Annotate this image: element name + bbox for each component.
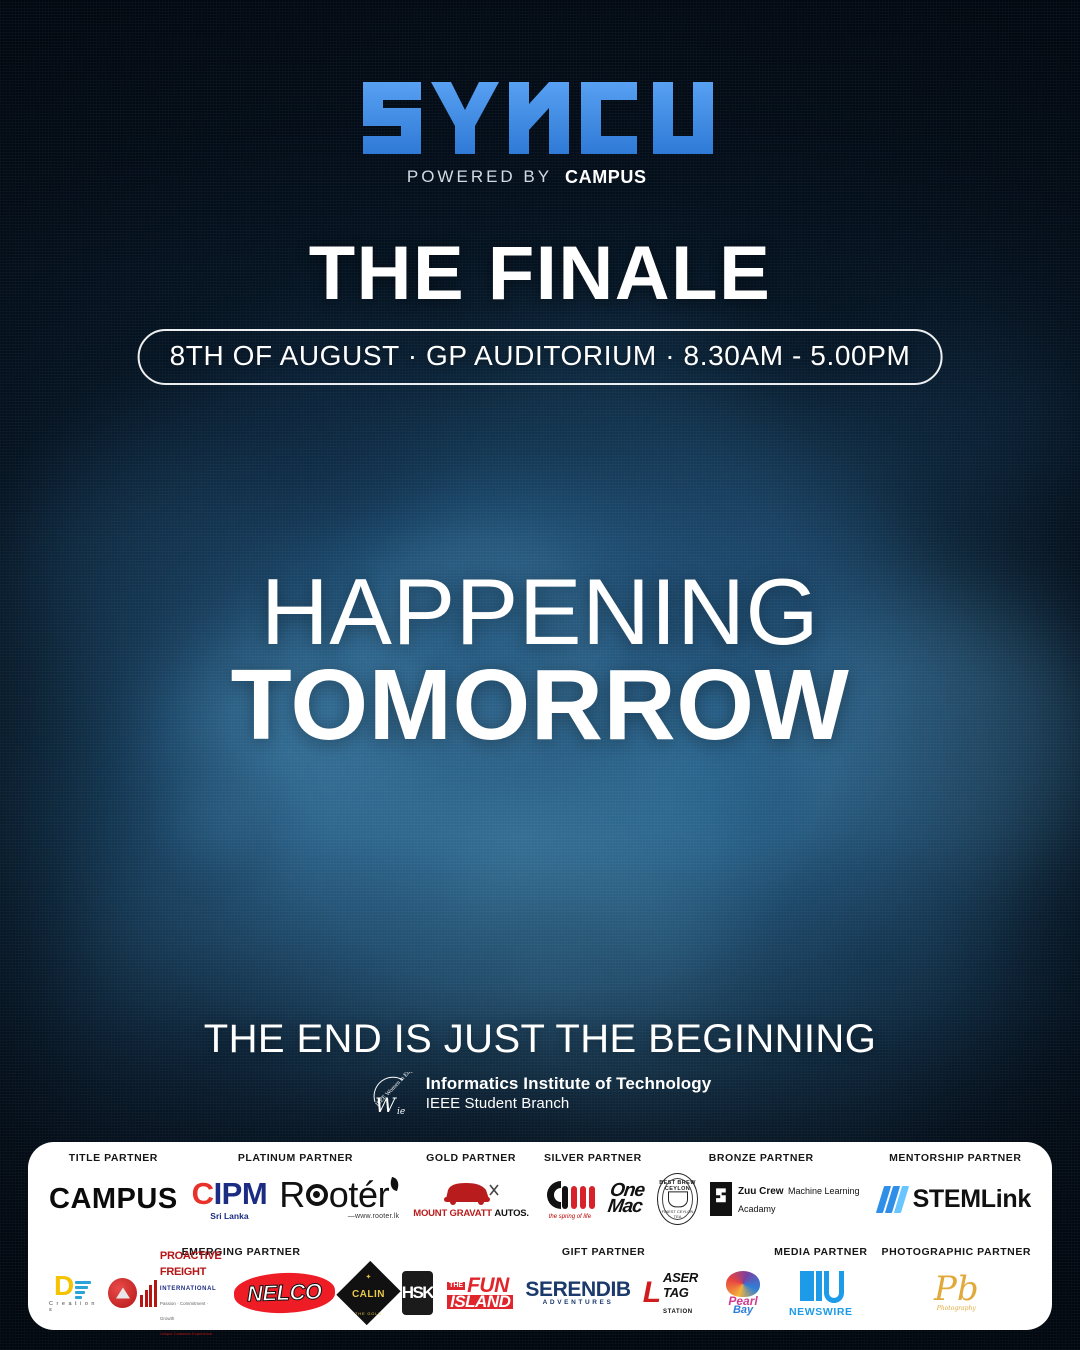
sponsor-row-2: EMERGING PARTNER D xyxy=(42,1246,1038,1334)
laser-l: L xyxy=(643,1281,661,1305)
rooter-prefix: R xyxy=(279,1178,305,1212)
logo-hsk: HSK xyxy=(402,1271,433,1315)
rooter-url: —www.rooter.lk xyxy=(348,1214,399,1221)
sponsor-group-silver-partner: SILVER PARTNER the spring of life xyxy=(536,1152,650,1228)
logo-newswire: NEWSWIRE xyxy=(789,1269,853,1318)
logo-proactive-freight: PROACTIVE FREIGHT INTERNATIONAL Passion … xyxy=(108,1247,222,1338)
zuu-line-2: Machine Learning xyxy=(788,1186,860,1196)
page-title: THE FINALE xyxy=(0,236,1080,312)
logo-cm: the spring of life xyxy=(543,1178,597,1220)
logo-pb-photography: Pb Photography xyxy=(934,1274,979,1312)
logo-campus: CAMPUS xyxy=(49,1183,178,1216)
cm-subtitle: the spring of life xyxy=(549,1214,591,1220)
stemlink-mark-icon xyxy=(880,1186,905,1213)
rooter-leaf-icon xyxy=(389,1176,401,1190)
organizer-line-2: IEEE Student Branch xyxy=(426,1095,712,1113)
sync-up-wordmark-icon xyxy=(359,74,721,160)
organizer-block: IEEE Women in Engineering W ie Informati… xyxy=(0,1072,1080,1116)
proactive-line-4: Passion · Commitment · Growth xyxy=(160,1301,208,1321)
logo-rooter: R otér —www.rooter.lk xyxy=(279,1178,399,1221)
headline-bottom: TOMORROW xyxy=(0,655,1080,755)
sponsor-group-platinum-partner: PLATINUM PARTNER CIPM Sri Lanka xyxy=(185,1152,407,1228)
sponsor-row-1: TITLE PARTNER CAMPUS PLATINUM PARTNER CI… xyxy=(42,1152,1038,1244)
zuu-line-1: Zuu Crew xyxy=(738,1186,784,1197)
rooter-suffix: otér xyxy=(329,1178,389,1212)
proactive-line-5: Unique Customer Experience xyxy=(160,1331,212,1336)
sponsor-card: TITLE PARTNER CAMPUS PLATINUM PARTNER CI… xyxy=(28,1142,1052,1330)
calin-text: CALIN xyxy=(352,1289,385,1300)
logo-laser-tag-station: L ASER TAG STATION xyxy=(643,1270,714,1316)
sponsor-group-emerging-partner: EMERGING PARTNER D xyxy=(42,1246,440,1322)
svg-text:CAMPUS: CAMPUS xyxy=(565,167,647,187)
campus-logo-icon: CAMPUS xyxy=(565,167,673,187)
sponsor-label: BRONZE PARTNER xyxy=(709,1152,814,1164)
mount-gravatt-name: MOUNT GRAVATT AUTOS. xyxy=(413,1208,529,1219)
cipm-c: C xyxy=(192,1176,214,1211)
hsk-text: HSK xyxy=(402,1283,433,1303)
sponsor-group-mentorship-partner: MENTORSHIP PARTNER STEMLink xyxy=(873,1152,1038,1228)
proactive-line-1: PROACTIVE xyxy=(160,1250,221,1262)
dcre-subtitle: C r e a t i o n s xyxy=(49,1301,96,1313)
sponsor-label: GOLD PARTNER xyxy=(426,1152,516,1164)
sponsor-label: PLATINUM PARTNER xyxy=(238,1152,353,1164)
newswire-text: NEWSWIRE xyxy=(789,1306,853,1318)
powered-by-label: POWERED BY xyxy=(407,167,552,187)
sponsor-label: TITLE PARTNER xyxy=(69,1152,158,1164)
fun-island: ISLAND xyxy=(447,1295,513,1310)
newswire-mark-icon xyxy=(798,1269,844,1303)
sponsor-label: MEDIA PARTNER xyxy=(774,1246,867,1258)
logo-pearl-bay: Pearl Bay xyxy=(726,1271,760,1316)
logo-mount-gravatt-autos: MOUNT GRAVATT AUTOS. xyxy=(413,1179,529,1219)
proactive-line-2: FREIGHT xyxy=(160,1266,206,1278)
logo-one-mac: One Mac xyxy=(607,1183,645,1214)
ieee-we-logo-icon: IEEE Women in Engineering W ie xyxy=(369,1072,415,1116)
sync-up-logo: POWERED BY CAMPUS xyxy=(0,74,1080,187)
zuu-line-3: Acadamy xyxy=(738,1204,776,1214)
zuu-z-icon xyxy=(710,1182,732,1216)
cipm-ipm: IPM xyxy=(214,1176,268,1211)
globe-icon xyxy=(108,1278,137,1308)
pearl-line-2: Bay xyxy=(733,1304,753,1316)
logo-best-brew-ceylon: BEST BREW CEYLON FINEST CEYLON TEA xyxy=(657,1173,698,1225)
car-icon xyxy=(442,1179,500,1206)
sponsor-group-photographic-partner: PHOTOGRAPHIC PARTNER Pb Photography xyxy=(875,1246,1038,1322)
proactive-line-3: INTERNATIONAL xyxy=(160,1286,216,1292)
pb-subtitle: Photography xyxy=(937,1305,976,1312)
logo-zuu-crew: Zuu Crew Machine Learning Acadamy xyxy=(710,1181,865,1218)
sponsor-group-gold-partner: GOLD PARTNER MOUNT GRAVATT AUTOS. xyxy=(406,1152,536,1228)
serendib-name: SERENDIB xyxy=(525,1281,630,1300)
logo-calin: ✦ CALIN THE GOLD xyxy=(336,1261,400,1325)
nelco-text: NELCO xyxy=(247,1279,322,1308)
headline-block: HAPPENING TOMORROW xyxy=(0,565,1080,755)
laser-line-1: ASER TAG xyxy=(663,1270,698,1300)
organizer-line-1: Informatics Institute of Technology xyxy=(426,1074,712,1095)
onemac-line-2: Mac xyxy=(607,1199,643,1215)
logo-the-fun-island: THE FUN ISLAND xyxy=(447,1277,513,1310)
sponsor-label: GIFT PARTNER xyxy=(562,1246,645,1258)
brew-top-text: BEST BREW CEYLON xyxy=(658,1180,697,1192)
svg-text:ie: ie xyxy=(397,1107,405,1116)
calin-subtitle: THE GOLD xyxy=(355,1311,382,1316)
sponsor-group-bronze-partner: BRONZE PARTNER BEST BREW CEYLON FINEST C… xyxy=(650,1152,873,1228)
star-icon: ✦ xyxy=(365,1274,371,1281)
laser-line-2: STATION xyxy=(663,1309,693,1315)
logo-cipm: CIPM Sri Lanka xyxy=(192,1178,268,1221)
logo-stemlink: STEMLink xyxy=(880,1185,1031,1214)
serendib-subtitle: ADVENTURES xyxy=(543,1300,614,1306)
wifi-waves-icon xyxy=(75,1281,91,1299)
brew-bottom-text: FINEST CEYLON TEA xyxy=(658,1209,697,1219)
sponsor-group-gift-partner: GIFT PARTNER THE FUN ISLAND SERENDIB ADV… xyxy=(440,1246,767,1322)
fun-the: THE xyxy=(447,1282,465,1290)
logo-serendib-adventures: SERENDIB ADVENTURES xyxy=(525,1281,630,1306)
cm-mark-icon xyxy=(543,1178,597,1212)
svg-text:W: W xyxy=(375,1093,397,1116)
logo-d-creations: D C r e a t i o n s xyxy=(49,1273,96,1312)
rooter-target-icon xyxy=(306,1184,328,1206)
cipm-subtitle: Sri Lanka xyxy=(210,1212,248,1221)
dcre-letter: D xyxy=(54,1273,74,1298)
tagline: THE END IS JUST THE BEGINNING xyxy=(0,1017,1080,1062)
logo-nelco: NELCO xyxy=(234,1271,336,1314)
headline-top: HAPPENING xyxy=(0,565,1080,659)
sponsor-label: SILVER PARTNER xyxy=(544,1152,642,1164)
sponsor-group-media-partner: MEDIA PARTNER NEWSWIRE xyxy=(767,1246,874,1322)
sponsor-label: PHOTOGRAPHIC PARTNER xyxy=(882,1246,1031,1258)
event-details-pill: 8TH OF AUGUST · GP AUDITORIUM · 8.30AM -… xyxy=(138,329,943,385)
teacup-icon xyxy=(668,1191,688,1207)
sponsor-label: MENTORSHIP PARTNER xyxy=(889,1152,1021,1164)
event-poster: POWERED BY CAMPUS THE FINALE 8TH OF AUGU… xyxy=(0,0,1080,1350)
bars-icon xyxy=(140,1280,157,1307)
stemlink-text: STEMLink xyxy=(913,1185,1031,1214)
sponsor-group-title-partner: TITLE PARTNER CAMPUS xyxy=(42,1152,185,1228)
powered-by-row: POWERED BY CAMPUS xyxy=(0,167,1080,187)
pb-script: Pb xyxy=(934,1274,979,1305)
